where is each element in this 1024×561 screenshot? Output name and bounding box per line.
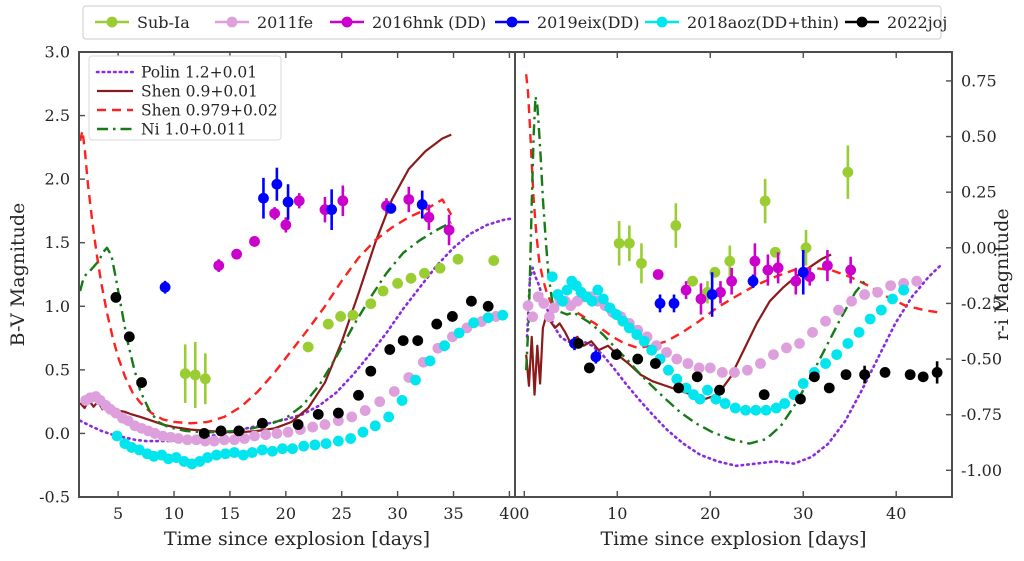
data-point (831, 349, 842, 360)
data-point (453, 254, 464, 265)
x-tick-label: 40 (886, 504, 906, 523)
data-point (410, 375, 421, 386)
x-tick-label: 0 (519, 504, 529, 523)
data-point (424, 212, 435, 223)
legend-marker-3 (507, 17, 518, 28)
data-point (859, 289, 870, 300)
data-point (360, 405, 371, 416)
legend-top-label-0: Sub-Ia (137, 13, 190, 32)
data-point (337, 195, 348, 206)
legend-top-label-2: 2016hnk (DD) (372, 13, 486, 32)
data-point (200, 373, 211, 384)
data-point (267, 446, 278, 457)
data-point (294, 195, 305, 206)
data-point (726, 276, 737, 287)
data-point (370, 420, 381, 431)
y-tick-label: 0.50 (961, 127, 997, 146)
data-point (527, 311, 538, 322)
data-point (547, 271, 558, 282)
data-point (365, 298, 376, 309)
data-point (136, 377, 147, 388)
x-tick-label: 25 (332, 504, 352, 523)
data-point (759, 389, 770, 400)
data-point (636, 258, 647, 269)
data-point (692, 371, 703, 382)
data-point (190, 370, 201, 381)
data-point (523, 300, 534, 311)
x-tick-label: 30 (387, 504, 407, 523)
data-point (681, 285, 692, 296)
data-point (283, 427, 294, 438)
data-point (918, 371, 929, 382)
data-point (497, 310, 508, 321)
data-point (383, 412, 394, 423)
data-point (488, 255, 499, 266)
data-point (833, 305, 844, 316)
data-point (742, 365, 753, 376)
data-point (483, 312, 494, 323)
data-point (468, 317, 479, 328)
data-point (573, 338, 584, 349)
data-point (671, 354, 682, 365)
x-tick-label: 5 (113, 504, 123, 523)
y-tick-label: 3.0 (45, 43, 70, 62)
x-tick-label: 10 (607, 504, 627, 523)
data-point (653, 269, 664, 280)
figure-svg: 510152025303540-0.50.00.51.01.52.02.53.0… (0, 0, 1024, 561)
data-point (277, 443, 288, 454)
legend-model-label-2: Shen 0.979+0.02 (141, 102, 278, 120)
data-point (160, 282, 171, 293)
data-point (249, 431, 260, 442)
data-point (859, 369, 870, 380)
data-point (412, 335, 423, 346)
data-point (730, 403, 741, 414)
data-point (740, 405, 751, 416)
data-point (293, 419, 304, 430)
data-point (247, 447, 258, 458)
data-point (590, 351, 601, 362)
data-point (333, 436, 344, 447)
data-point (335, 311, 346, 322)
data-point (824, 383, 835, 394)
data-point (663, 365, 674, 376)
y-tick-label: 0.25 (961, 183, 997, 202)
y-tick-label: -0.5 (39, 488, 70, 507)
data-point (729, 367, 740, 378)
data-point (287, 443, 298, 454)
data-point (233, 425, 244, 436)
data-point (216, 425, 227, 436)
figure-root: 510152025303540-0.50.00.51.01.52.02.53.0… (0, 0, 1024, 561)
data-point (820, 316, 831, 327)
y-tick-label: 2.0 (45, 170, 70, 189)
data-point (483, 301, 494, 312)
data-point (346, 412, 357, 423)
data-point (392, 278, 403, 289)
data-point (180, 368, 191, 379)
legend-marker-0 (107, 17, 118, 28)
data-point (872, 287, 883, 298)
data-point (911, 276, 922, 287)
data-point (398, 335, 409, 346)
data-point (822, 260, 833, 271)
x-tick-label: 35 (443, 504, 463, 523)
data-point (271, 179, 282, 190)
y-axis-title: r-i Magnitude (991, 208, 1013, 340)
data-point (309, 439, 320, 450)
data-point (842, 338, 853, 349)
x-tick-label: 40 (499, 504, 519, 523)
x-axis-title: Time since explosion [days] (164, 528, 430, 550)
legend-top-label-4: 2018aoz(DD+thin) (687, 13, 839, 32)
data-point (384, 344, 395, 355)
data-point (614, 238, 625, 249)
data-point (755, 358, 766, 369)
y-tick-label: -1.00 (961, 461, 1002, 480)
data-point (683, 358, 694, 369)
data-point (876, 305, 887, 316)
data-point (749, 256, 760, 267)
data-point (326, 204, 337, 215)
data-point (820, 358, 831, 369)
data-point (670, 220, 681, 231)
data-point (374, 396, 385, 407)
data-point (702, 385, 713, 396)
data-point (345, 433, 356, 444)
data-point (298, 441, 309, 452)
data-point (794, 338, 805, 349)
data-point (269, 208, 280, 219)
data-point (231, 249, 242, 260)
legend-model-label-3: Ni 1.0+0.011 (141, 121, 246, 139)
data-point (905, 369, 916, 380)
data-point (717, 367, 728, 378)
x-tick-label: 30 (793, 504, 813, 523)
model-curve (80, 219, 512, 442)
data-point (447, 311, 458, 322)
data-point (885, 280, 896, 291)
data-point (347, 310, 358, 321)
data-point (671, 374, 682, 385)
data-point (807, 327, 818, 338)
legend-model-label-1: Shen 0.9+0.01 (141, 83, 258, 101)
data-point (611, 349, 622, 360)
data-point (779, 398, 790, 409)
data-point (444, 225, 455, 236)
data-point (592, 285, 603, 296)
data-point (307, 422, 318, 433)
data-point (406, 273, 417, 284)
data-point (696, 294, 707, 305)
data-point (687, 276, 698, 287)
data-point (673, 383, 684, 394)
data-point (587, 296, 598, 307)
data-point (386, 203, 397, 214)
data-point (846, 296, 857, 307)
data-point (124, 331, 135, 342)
model-curve (80, 222, 451, 432)
data-point (258, 193, 269, 204)
data-point (419, 268, 430, 279)
data-point (639, 336, 650, 347)
data-point (768, 349, 779, 360)
data-point (845, 265, 856, 276)
data-point (249, 236, 260, 247)
data-point (397, 395, 408, 406)
data-point (313, 409, 324, 420)
data-point (112, 431, 123, 442)
y-tick-label: -0.75 (961, 405, 1002, 424)
data-point (705, 363, 716, 374)
data-point (650, 358, 661, 369)
data-point (842, 167, 853, 178)
model-curve (526, 74, 938, 348)
data-point (389, 386, 400, 397)
data-point (932, 367, 943, 378)
data-point (358, 427, 369, 438)
data-point (257, 418, 268, 429)
y-tick-label: 1.5 (45, 233, 70, 252)
data-point (750, 405, 761, 416)
data-point (707, 289, 718, 300)
data-point (538, 298, 549, 309)
data-point (646, 345, 657, 356)
data-point (435, 263, 446, 274)
legend-top-label-3: 2019eix(DD) (537, 13, 639, 32)
data-point (557, 296, 568, 307)
data-point (425, 356, 436, 367)
data-point (795, 394, 806, 405)
y-tick-label: 0.0 (45, 424, 70, 443)
data-point (431, 319, 442, 330)
x-tick-label: 15 (220, 504, 240, 523)
y-tick-label: 2.5 (45, 106, 70, 125)
data-point (790, 276, 801, 287)
data-point (353, 390, 364, 401)
data-point (378, 286, 389, 297)
data-point (283, 197, 294, 208)
data-point (669, 298, 680, 309)
x-tick-label: 20 (276, 504, 296, 523)
data-point (854, 327, 865, 338)
data-point (439, 340, 450, 351)
data-point (624, 238, 635, 249)
data-point (865, 314, 876, 325)
data-point (110, 292, 121, 303)
legend-marker-4 (657, 17, 668, 28)
legend-marker-1 (227, 17, 238, 28)
data-point (584, 363, 595, 374)
data-point (271, 428, 282, 439)
data-point (632, 354, 643, 365)
data-point (321, 438, 332, 449)
data-point (323, 319, 334, 330)
data-point (549, 302, 560, 313)
data-point (714, 385, 725, 396)
data-point (280, 220, 291, 231)
data-point (209, 436, 220, 447)
data-point (748, 276, 759, 287)
data-point (303, 342, 314, 353)
data-point (887, 294, 898, 305)
data-point (798, 378, 809, 389)
data-point (257, 445, 268, 456)
x-tick-label: 10 (164, 504, 184, 523)
model-curve (80, 131, 451, 423)
y-axis-title: B-V Magnitude (7, 203, 29, 347)
data-point (333, 408, 344, 419)
data-point (466, 296, 477, 307)
data-point (720, 398, 731, 409)
data-point (898, 285, 909, 296)
data-point (598, 294, 609, 305)
data-point (798, 267, 809, 278)
legend-marker-5 (857, 17, 868, 28)
data-point (760, 196, 771, 207)
legend-marker-2 (342, 17, 353, 28)
y-tick-label: 0.5 (45, 360, 70, 379)
y-tick-label: -0.50 (961, 350, 1002, 369)
data-point (655, 298, 666, 309)
data-point (417, 199, 428, 210)
legend-model-label-0: Polin 1.2+0.01 (141, 64, 257, 82)
y-tick-label: 1.0 (45, 297, 70, 316)
legend-top-label-5: 2022joj (887, 13, 947, 32)
data-point (781, 343, 792, 354)
data-point (841, 369, 852, 380)
data-point (773, 262, 784, 273)
data-point (320, 419, 331, 430)
data-point (213, 260, 224, 271)
data-point (199, 428, 210, 439)
data-point (880, 367, 891, 378)
data-point (694, 363, 705, 374)
data-point (695, 394, 706, 405)
x-tick-label: 20 (700, 504, 720, 523)
data-point (403, 194, 414, 205)
y-tick-label: 0.75 (961, 71, 997, 90)
data-point (454, 328, 465, 339)
data-point (365, 366, 376, 377)
x-axis-title: Time since explosion [days] (600, 528, 866, 550)
data-point (761, 405, 772, 416)
data-point (809, 371, 820, 382)
legend-top-label-1: 2011fe (257, 13, 313, 32)
data-point (260, 429, 271, 440)
data-point (724, 256, 735, 267)
data-point (763, 265, 774, 276)
